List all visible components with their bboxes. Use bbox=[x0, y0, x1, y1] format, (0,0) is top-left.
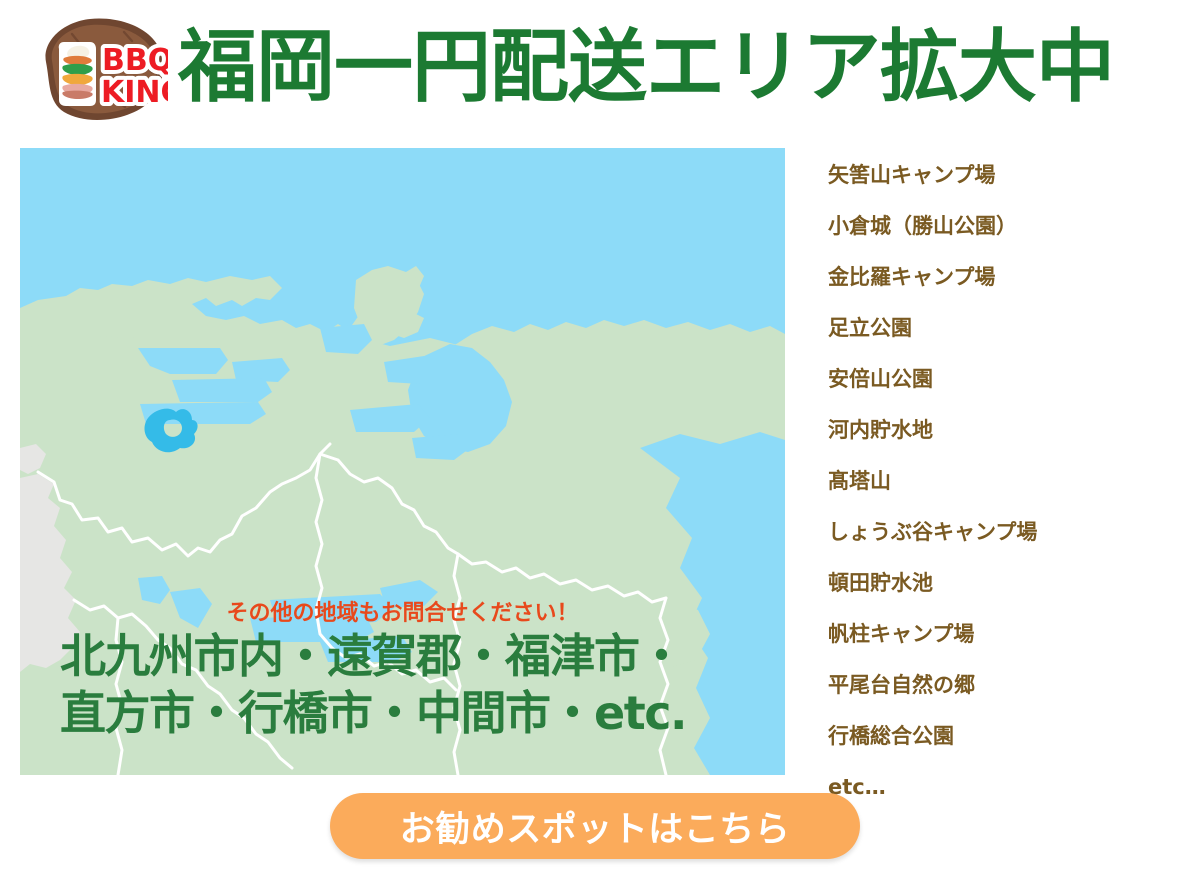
list-item: 行橋総合公園 bbox=[828, 711, 1168, 762]
list-item: 帆柱キャンプ場 bbox=[828, 609, 1168, 660]
list-item: 平尾台自然の郷 bbox=[828, 660, 1168, 711]
bbq-king-logo: BBQ BBQ KING KING bbox=[28, 14, 168, 126]
list-item: etc… bbox=[828, 762, 1168, 813]
delivery-area-map: その他の地域もお問合せください！ 北九州市内・遠賀郡・福津市・ 直方市・行橋市・… bbox=[20, 148, 785, 775]
list-item: しょうぶ谷キャンプ場 bbox=[828, 507, 1168, 558]
list-item: 髙塔山 bbox=[828, 456, 1168, 507]
list-item: 金比羅キャンプ場 bbox=[828, 252, 1168, 303]
recommended-spots-button-label: お勧めスポットはこちら bbox=[400, 801, 791, 852]
recommended-spot-list: 矢筈山キャンプ場 小倉城（勝山公園） 金比羅キャンプ場 足立公園 安倍山公園 河… bbox=[828, 150, 1168, 813]
list-item: 頓田貯水池 bbox=[828, 558, 1168, 609]
list-item: 足立公園 bbox=[828, 303, 1168, 354]
recommended-spots-button[interactable]: お勧めスポットはこちら bbox=[330, 793, 860, 859]
page-header: BBQ BBQ KING KING 福岡一円配送エリア拡大中 bbox=[0, 0, 1200, 140]
map-subtitle: その他の地域もお問合せください！ bbox=[20, 595, 785, 627]
list-item: 河内貯水地 bbox=[828, 405, 1168, 456]
list-item: 矢筈山キャンプ場 bbox=[828, 150, 1168, 201]
list-item: 安倍山公園 bbox=[828, 354, 1168, 405]
map-area-line-2: 直方市・行橋市・中間市・etc. bbox=[60, 685, 760, 742]
map-area-names: 北九州市内・遠賀郡・福津市・ 直方市・行橋市・中間市・etc. bbox=[60, 628, 760, 742]
page-title: 福岡一円配送エリア拡大中 bbox=[178, 17, 1168, 117]
logo-king-text: KING bbox=[101, 75, 168, 110]
map-area-line-1: 北九州市内・遠賀郡・福津市・ bbox=[60, 628, 760, 685]
logo-bbq-text: BBQ bbox=[102, 43, 168, 78]
list-item: 小倉城（勝山公園） bbox=[828, 201, 1168, 252]
